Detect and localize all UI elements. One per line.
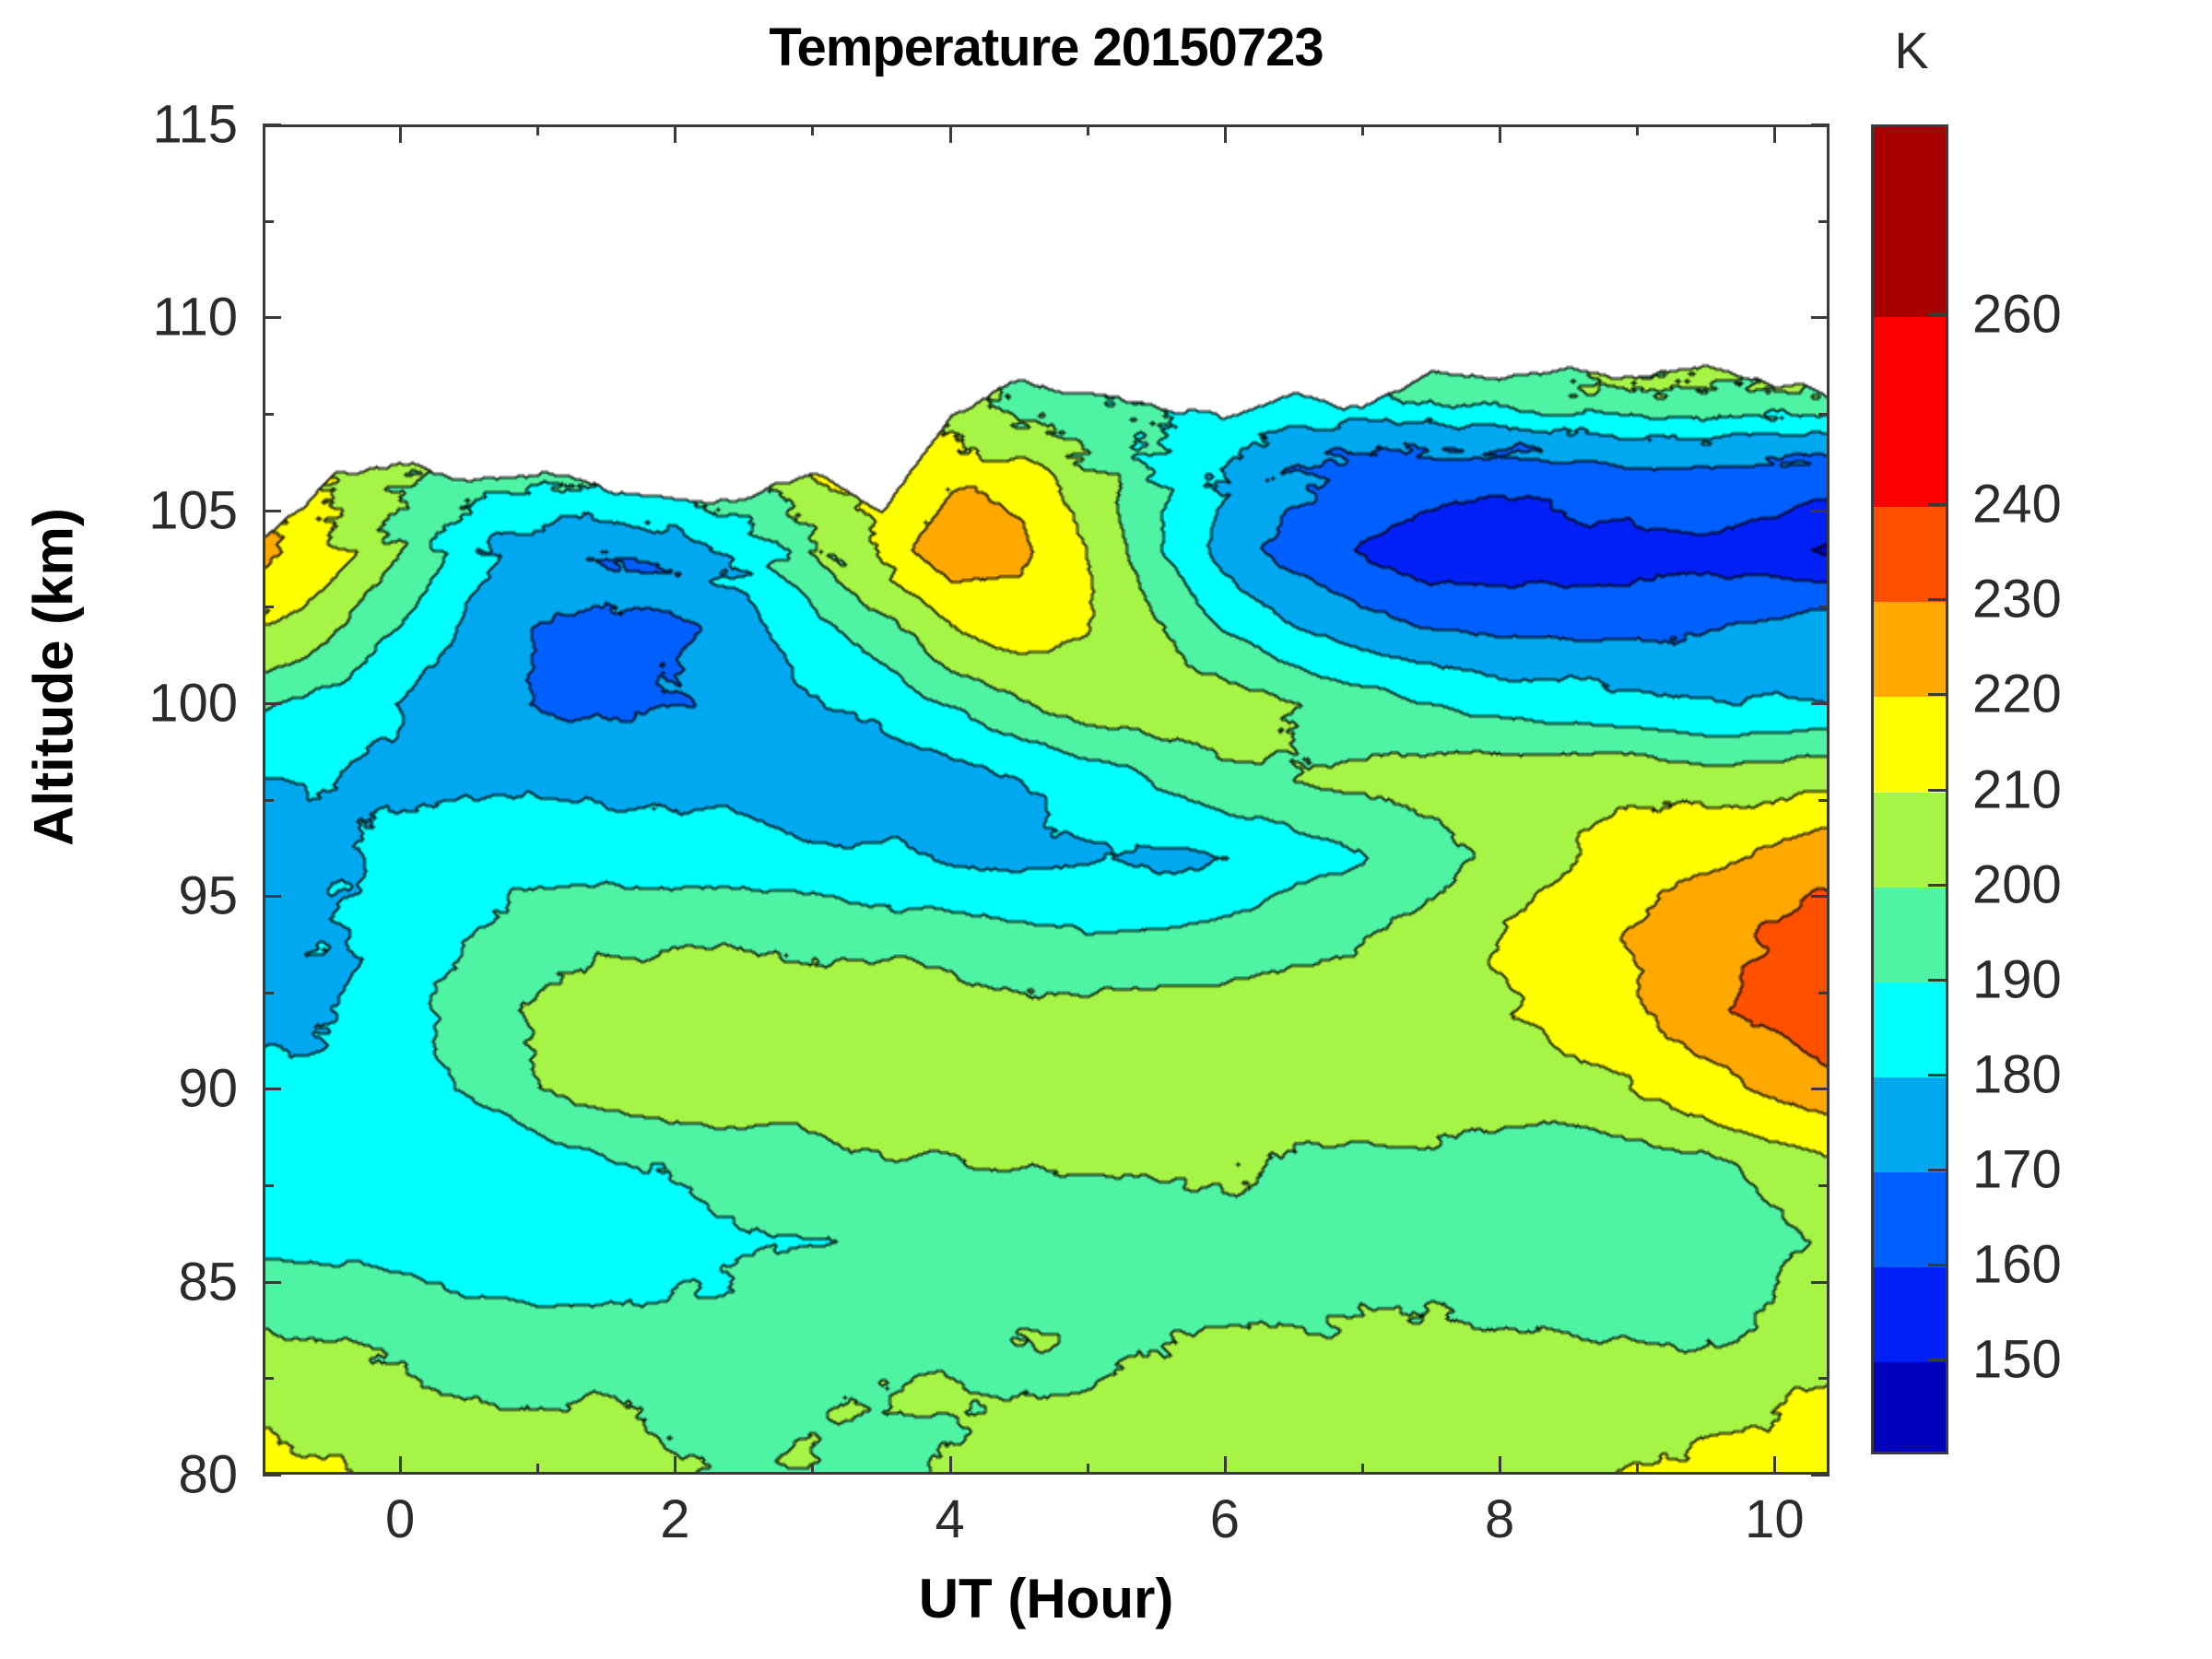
y-tick-label: 80	[17, 1444, 238, 1506]
colorbar-tick-mark	[1928, 884, 1948, 887]
y-tick-mark	[263, 124, 281, 126]
contour-field	[265, 127, 1827, 1472]
y-tick-mark	[1811, 1088, 1830, 1090]
x-tick-mark-minor	[811, 1464, 814, 1475]
y-tick-mark-minor	[1818, 220, 1830, 223]
x-tick-label: 2	[582, 1488, 767, 1550]
colorbar-band	[1874, 982, 1946, 1077]
y-axis-label: Altitude (km)	[22, 419, 86, 935]
colorbar-tick-label: 180	[1972, 1043, 2062, 1105]
x-tick-label: 10	[1682, 1488, 1866, 1550]
y-tick-mark	[263, 895, 281, 898]
x-tick-label: 6	[1133, 1488, 1317, 1550]
x-tick-mark-minor	[811, 124, 814, 135]
y-tick-mark-minor	[263, 413, 274, 416]
y-tick-mark-minor	[1818, 799, 1830, 802]
colorbar-band	[1874, 1172, 1946, 1267]
y-tick-mark	[263, 702, 281, 705]
x-tick-mark-minor	[1636, 1464, 1639, 1475]
x-tick-mark	[1224, 1456, 1227, 1475]
y-tick-mark-minor	[1818, 992, 1830, 994]
colorbar-band	[1874, 127, 1946, 317]
y-tick-mark-minor	[263, 992, 274, 994]
colorbar-tick-mark	[1928, 979, 1948, 982]
y-tick-mark	[1811, 702, 1830, 705]
colorbar-tick-label: 170	[1972, 1138, 2062, 1200]
colorbar-tick-mark	[1928, 1264, 1948, 1266]
x-tick-mark	[1224, 124, 1227, 143]
x-tick-mark-minor	[1636, 124, 1639, 135]
y-tick-mark-minor	[263, 799, 274, 802]
x-tick-label: 8	[1407, 1488, 1592, 1550]
colorbar-tick-mark	[1928, 1169, 1948, 1171]
colorbar-tick-label: 260	[1972, 284, 2062, 346]
colorbar-band	[1874, 1267, 1946, 1362]
y-tick-mark	[1811, 510, 1830, 512]
y-tick-mark-minor	[263, 606, 274, 608]
y-tick-mark	[263, 1088, 281, 1090]
y-tick-label: 90	[17, 1058, 238, 1120]
colorbar-band	[1874, 793, 1946, 888]
colorbar-band	[1874, 888, 1946, 982]
colorbar-band	[1874, 317, 1946, 507]
colorbar-tick-mark	[1928, 503, 1948, 506]
colorbar-tick-mark	[1928, 1359, 1948, 1361]
contour-plot-axes[interactable]	[263, 124, 1830, 1475]
colorbar-tick-label: 220	[1972, 664, 2062, 725]
colorbar-tick-mark	[1928, 693, 1948, 696]
x-tick-mark	[949, 1456, 952, 1475]
y-tick-label: 85	[17, 1251, 238, 1312]
x-tick-mark-minor	[536, 1464, 539, 1475]
y-tick-mark	[263, 316, 281, 319]
colorbar-tick-label: 230	[1972, 569, 2062, 630]
x-tick-mark-minor	[536, 124, 539, 135]
colorbar-tick-label: 200	[1972, 853, 2062, 915]
y-tick-mark	[1811, 895, 1830, 898]
y-tick-mark	[263, 510, 281, 512]
x-tick-mark-minor	[1361, 124, 1364, 135]
colorbar-band	[1874, 1077, 1946, 1172]
y-tick-label: 115	[17, 94, 238, 156]
colorbar-tick-mark	[1928, 1074, 1948, 1077]
y-tick-mark	[263, 1281, 281, 1284]
colorbar-tick-mark	[1928, 789, 1948, 792]
colorbar-unit-label: K	[1875, 20, 1948, 80]
colorbar-band	[1874, 697, 1946, 792]
figure-root: Temperature 20150723 8085909510010511011…	[0, 0, 2212, 1659]
page-title: Temperature 20150723	[263, 17, 1830, 78]
y-tick-mark	[1811, 316, 1830, 319]
x-tick-mark	[949, 124, 952, 143]
x-tick-mark	[399, 124, 402, 143]
x-tick-mark-minor	[1361, 1464, 1364, 1475]
colorbar-tick-mark	[1928, 313, 1948, 316]
colorbar-tick-label: 150	[1972, 1328, 2062, 1390]
x-tick-mark	[1773, 124, 1776, 143]
colorbar-band	[1874, 602, 1946, 697]
y-tick-mark-minor	[1818, 1184, 1830, 1187]
x-tick-label: 4	[858, 1488, 1042, 1550]
x-tick-mark	[1773, 1456, 1776, 1475]
colorbar-tick-mark	[1928, 598, 1948, 601]
y-tick-mark-minor	[1818, 606, 1830, 608]
colorbar-tick-label: 160	[1972, 1233, 2062, 1295]
y-tick-mark	[1811, 124, 1830, 126]
y-tick-mark	[1811, 1281, 1830, 1284]
colorbar-tick-label: 190	[1972, 948, 2062, 1010]
y-tick-mark-minor	[1818, 413, 1830, 416]
y-tick-mark-minor	[263, 220, 274, 223]
colorbar-tick-label: 210	[1972, 759, 2062, 820]
colorbar-band	[1874, 1362, 1946, 1454]
x-tick-mark-minor	[1087, 1464, 1089, 1475]
y-tick-mark-minor	[1818, 1377, 1830, 1380]
x-tick-mark	[1499, 1456, 1501, 1475]
y-tick-mark-minor	[263, 1377, 274, 1380]
x-tick-mark	[399, 1456, 402, 1475]
colorbar-band	[1874, 507, 1946, 602]
y-tick-mark	[263, 1474, 281, 1477]
x-tick-mark	[674, 1456, 677, 1475]
y-tick-mark	[1811, 1474, 1830, 1477]
y-tick-label: 110	[17, 287, 238, 348]
x-tick-mark-minor	[1087, 124, 1089, 135]
x-tick-label: 0	[308, 1488, 492, 1550]
x-tick-mark	[674, 124, 677, 143]
y-tick-mark-minor	[263, 1184, 274, 1187]
x-tick-mark	[1499, 124, 1501, 143]
x-axis-label: UT (Hour)	[263, 1567, 1830, 1630]
colorbar-tick-label: 240	[1972, 474, 2062, 535]
